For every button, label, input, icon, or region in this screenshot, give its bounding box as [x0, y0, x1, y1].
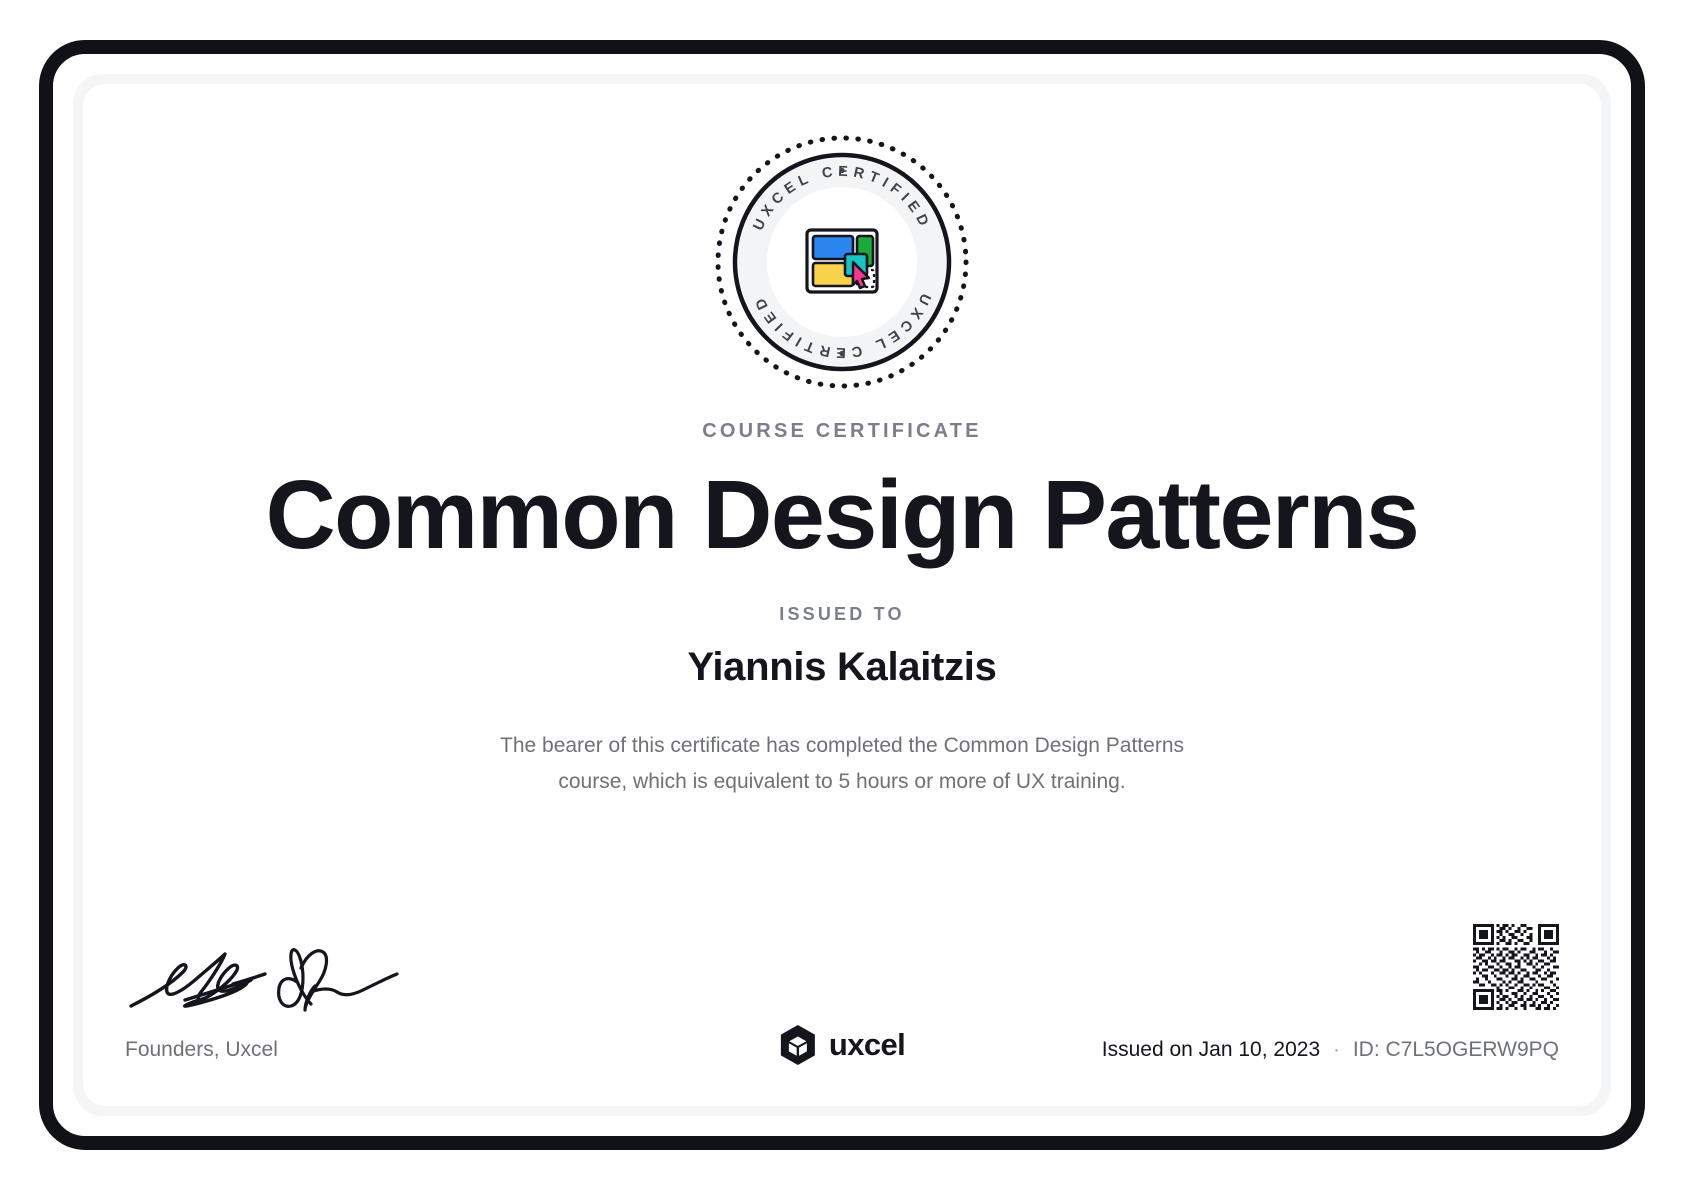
verification-qr-code[interactable]	[1473, 924, 1559, 1010]
founders-signatures	[125, 934, 425, 1014]
seal-bullet-top	[839, 168, 844, 173]
description-line-2: course, which is equivalent to 5 hours o…	[558, 770, 1125, 793]
founders-label: Founders, Uxcel	[125, 1038, 278, 1062]
design-patterns-layout-icon	[807, 230, 877, 292]
uxcel-wordmark: uxcel	[829, 1027, 905, 1063]
certificate-card: UXCEL CERTIFIED UXCEL CERTIFIED	[83, 84, 1601, 1106]
issue-separator: ·	[1326, 1038, 1347, 1061]
issue-info: Issued on Jan 10, 2023 · ID: C7L5OGERW9P…	[1102, 1038, 1559, 1062]
uxcel-brand: uxcel	[779, 1024, 905, 1066]
page-title: Common Design Patterns	[266, 465, 1419, 566]
seal-bullet-bottom	[839, 351, 844, 356]
issued-on-date: Issued on Jan 10, 2023	[1102, 1038, 1320, 1061]
description-line-1: The bearer of this certificate has compl…	[500, 734, 1184, 757]
uxcel-hex-cube-logo	[779, 1024, 817, 1066]
certificate-frame: UXCEL CERTIFIED UXCEL CERTIFIED	[39, 40, 1645, 1150]
certificate-footer: Founders, Uxcel uxcel	[83, 900, 1601, 1080]
uxcel-certified-seal: UXCEL CERTIFIED UXCEL CERTIFIED	[712, 132, 972, 392]
recipient-name: Yiannis Kalaitzis	[687, 645, 996, 690]
certificate-inner-panel: UXCEL CERTIFIED UXCEL CERTIFIED	[73, 74, 1611, 1116]
certificate-page: UXCEL CERTIFIED UXCEL CERTIFIED	[0, 0, 1684, 1190]
certificate-description: The bearer of this certificate has compl…	[452, 728, 1232, 800]
issued-to-label: ISSUED TO	[779, 604, 905, 625]
certificate-id: ID: C7L5OGERW9PQ	[1353, 1038, 1559, 1061]
eyebrow-label: COURSE CERTIFICATE	[702, 420, 981, 443]
